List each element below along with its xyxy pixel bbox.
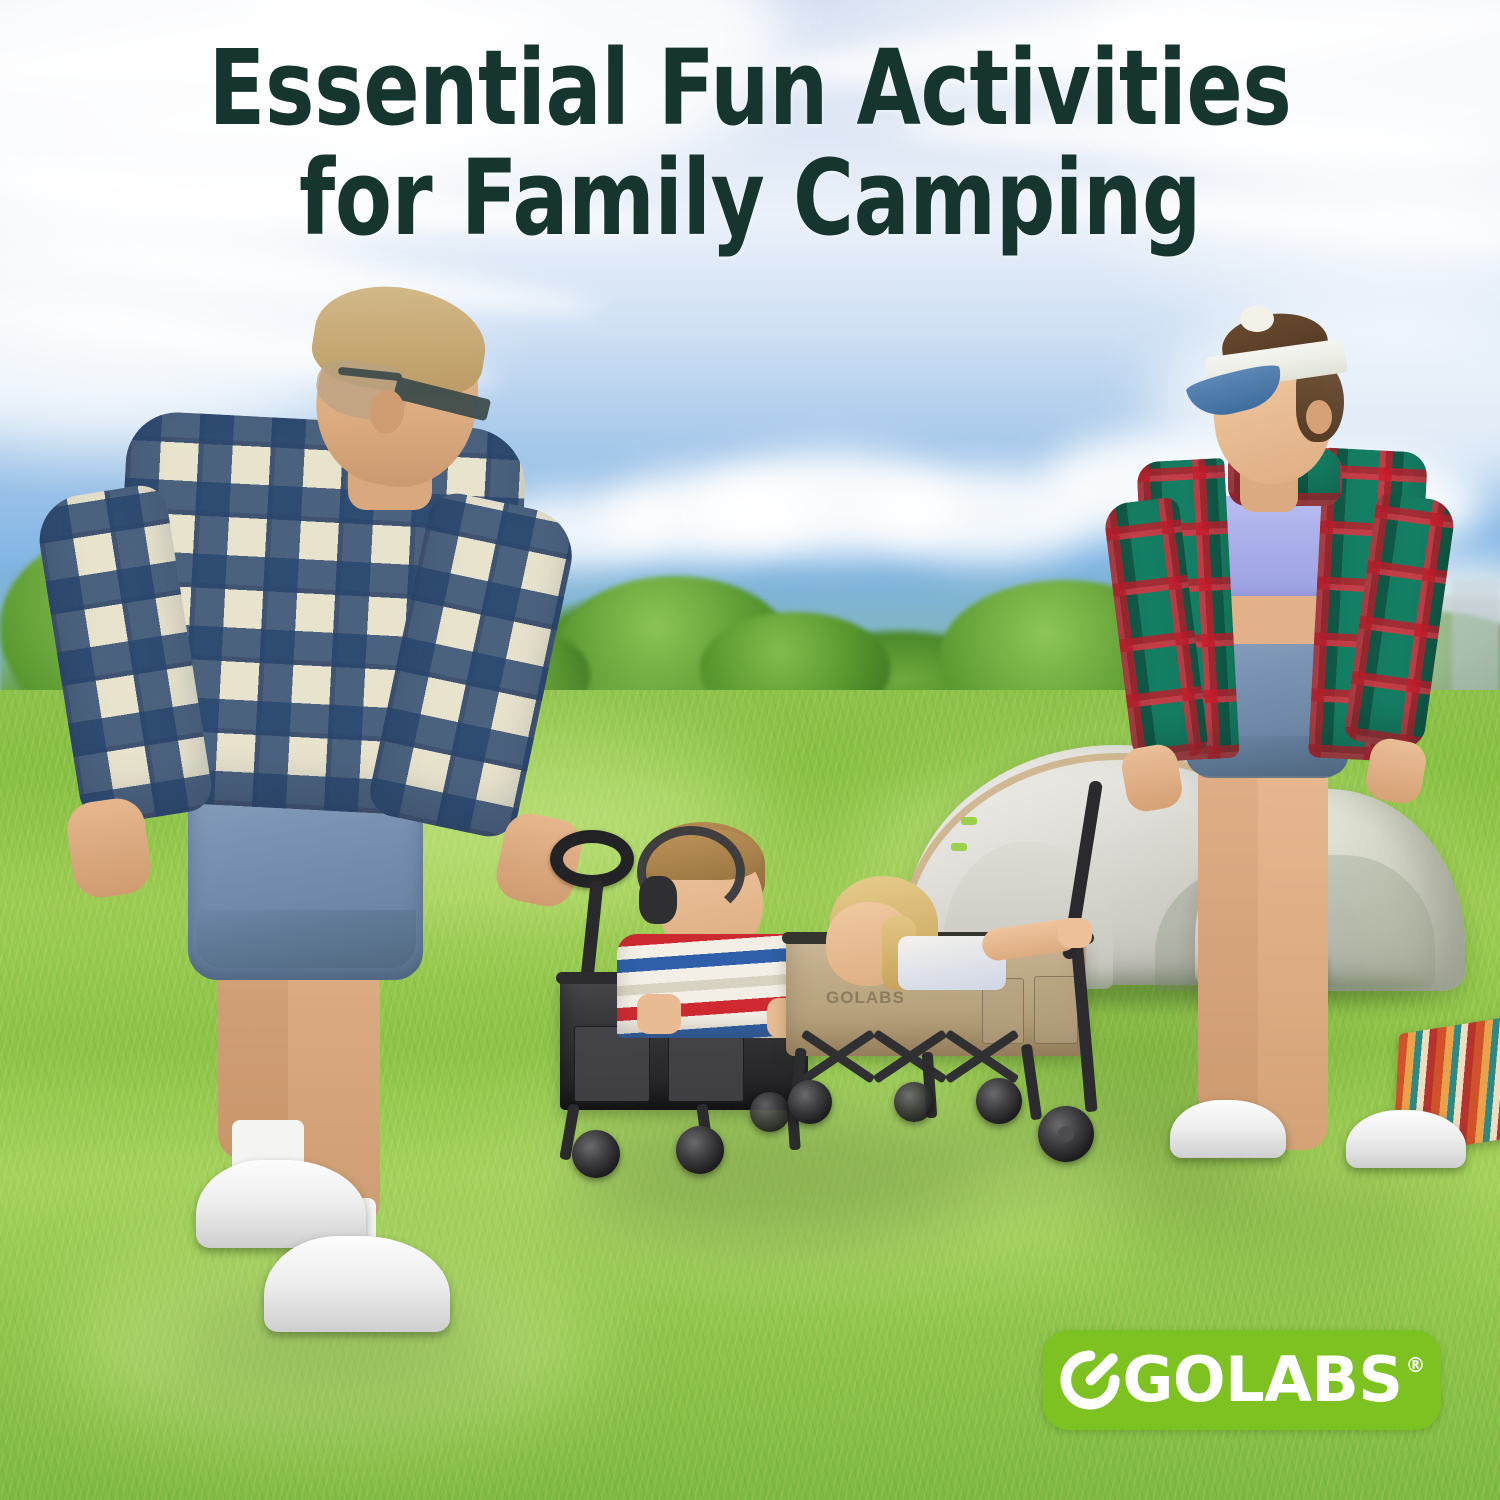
golabs-g-icon xyxy=(1059,1349,1121,1411)
brand-logo-lockup: GOLABS ® xyxy=(1059,1349,1426,1411)
woman-leg-front xyxy=(1258,730,1328,1150)
woman-shoe-front xyxy=(1346,1110,1466,1168)
person-woman xyxy=(1110,300,1450,1410)
brand-logo-badge[interactable]: GOLABS ® xyxy=(1043,1330,1441,1430)
man-shoe-front xyxy=(264,1236,450,1332)
wagon-wheel xyxy=(976,1078,1022,1124)
girl-hand xyxy=(1058,918,1092,948)
wagon-wheel xyxy=(572,1130,620,1178)
wagon-wheel-hub xyxy=(1058,1126,1074,1142)
man-shorts-fold xyxy=(196,910,416,968)
distant-building xyxy=(1452,580,1500,698)
tent-clip-icon xyxy=(961,817,977,825)
woman-ear xyxy=(1306,400,1332,434)
woman-leg-back xyxy=(1198,720,1264,1120)
tent-clip-icon xyxy=(951,843,967,851)
headline-line-2: for Family Camping xyxy=(150,150,1350,248)
headphone-earcup xyxy=(639,876,677,924)
brand-name-text: GOLABS xyxy=(1123,1349,1403,1411)
headline-line-1: Essential Fun Activities xyxy=(150,40,1350,138)
person-man xyxy=(0,270,600,1470)
wagon-wheel xyxy=(894,1082,934,1122)
poster-canvas: GOLABS xyxy=(0,0,1500,1500)
woman-hand-right xyxy=(1363,736,1429,807)
woman-scrunchie xyxy=(1240,306,1274,332)
man-hand-left xyxy=(64,795,155,901)
wagon-wheel xyxy=(788,1080,832,1124)
boy-hand-left xyxy=(637,994,681,1034)
person-girl xyxy=(820,876,1080,996)
wagon-wheel xyxy=(750,1092,790,1132)
page-title: Essential Fun Activities for Family Camp… xyxy=(0,40,1500,248)
wagon-wheel xyxy=(676,1126,724,1174)
trademark-symbol: ® xyxy=(1406,1355,1426,1375)
